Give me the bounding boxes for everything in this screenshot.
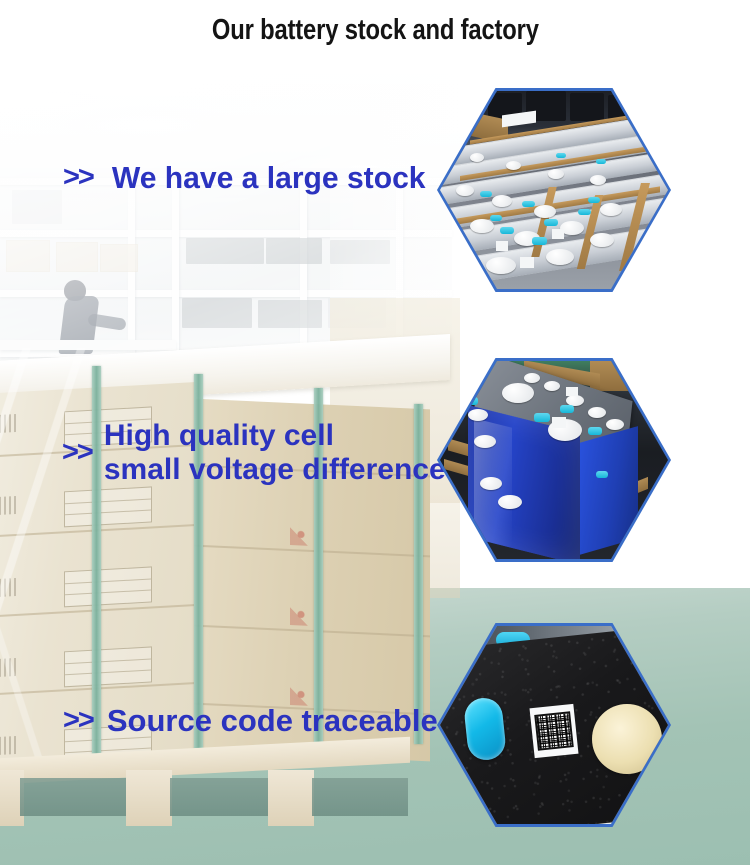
qr-code-icon (534, 711, 574, 751)
page-title-bar: Our battery stock and factory (0, 0, 750, 60)
feature-text-3: >>Source code traceable (63, 705, 438, 738)
page-title: Our battery stock and factory (212, 14, 539, 47)
feature-label-1: We have a large stock (112, 162, 426, 195)
chevron-icon: >> (63, 162, 93, 193)
chevron-icon: >> (63, 705, 93, 736)
feature-text-2: >> High quality cell small voltage diffe… (62, 420, 446, 486)
qr-code-label (530, 704, 579, 758)
hex-photo-cell-top-qr-code (437, 623, 671, 827)
feature-label-2-line1: High quality cell (104, 420, 446, 452)
hex-photo-battery-cells-in-cartons (437, 88, 671, 292)
feature-label-3: Source code traceable (107, 703, 438, 738)
promo-banner: Our battery stock and factory (0, 0, 750, 865)
feature-label-2-line2: small voltage difference (104, 454, 446, 486)
hex-photo-blue-prismatic-cell (437, 358, 671, 562)
battery-terminal (592, 704, 662, 774)
feature-text-1: >>We have a large stock (63, 162, 430, 195)
chevron-icon: >> (62, 437, 92, 468)
wooden-pallet (0, 748, 410, 840)
